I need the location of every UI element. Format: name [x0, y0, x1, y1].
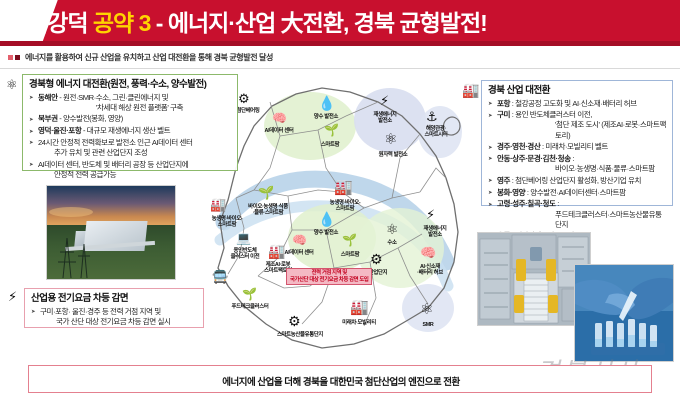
harbor-icon: ⚓: [426, 110, 438, 123]
map-callout-line2: 국가산단 대상 전기요금 차등 감면 도입: [290, 277, 368, 284]
footer-banner: 에너지에 산업을 더해 경북을 대한민국 첨단산업의 엔진으로 전환: [28, 365, 652, 393]
factory-icon-west: 🏭: [210, 198, 226, 211]
map-label-smart-farm-mid: 스마트팜: [326, 252, 374, 258]
header-subtitle: 에너지를 활용하여 신규 산업을 유치하고 산업 대전환을 통해 경북 균형발전…: [25, 52, 273, 63]
factory-icon-panel: 🏭: [462, 84, 479, 97]
map-label-semiconductor: 용인반도체 클러스터 이전: [214, 248, 276, 261]
industry-bullet-4: 안동·상주·문경·김천·청송 : 바이오·농생명·식품·물류·스마트팜: [488, 154, 667, 174]
map-label-hydrogen: 수소: [372, 240, 412, 246]
map-label-bio-smartfarm-west: 농생명·바이오- 스마트팜: [198, 216, 256, 229]
lab-photo-art: [575, 265, 673, 361]
map-callout-line1: 전력 거점 지역 및: [290, 270, 368, 277]
lightning-icon-panel: ⚡: [8, 290, 17, 303]
candidate-name: 이강덕: [27, 10, 87, 36]
map-label-ai-battery-hub: AI·신소재 ·배터리 허브: [400, 264, 460, 277]
map-label-ai-data-center-mid: AI데이터 센터: [268, 250, 330, 256]
footer-text: 에너지에 산업을 더해 경북을 대한민국 첨단산업의 엔진으로 전환: [29, 374, 653, 388]
photo-pylons: [47, 186, 175, 279]
map-label-foodtech: 푸드테크클러스터: [214, 304, 286, 310]
industry-bullet-2: 구미 : 용인 반도체클러스터 이전, '첨단 제조 도시' (제조AI·로봇·…: [488, 110, 667, 141]
ai-brain-icon-hub: 🧠: [420, 246, 436, 259]
lightning-icon-east: ⚡: [426, 208, 435, 221]
map-label-renewable-east: 재생에너지 발전소: [406, 226, 464, 239]
energy-bullet-5: AI데이터 센터, 반도체 및 배터리 공장 등 산업단지에 안정적 전력 공급…: [29, 160, 232, 180]
power-rate-box: 산업용 전기요금 차등 감면 구미·포항· 울진·경주 등 전력 거점 지역 및…: [24, 288, 204, 328]
map-callout-power-discount: 전력 거점 지역 및 국가산단 대상 전기요금 차등 감면 도입: [286, 268, 372, 285]
atom-icon-panel: ⚛: [6, 78, 18, 91]
map-label-bio-food-logistics: 바이오·농생명·식품 ·물류·스마트팜: [222, 204, 314, 217]
bullet-square-icon-2: [15, 55, 20, 60]
energy-bullet-2: 북부권 - 양수발전(봉화, 영양): [29, 114, 232, 124]
map-label-ai-data-center-north: AI데이터 센터: [248, 128, 310, 134]
ai-brain-icon-mid: 🧠: [292, 234, 307, 246]
infographic-root: 이강덕 공약 3 - 에너지·산업 大전환, 경북 균형발전! 에너지를 활용하…: [0, 0, 680, 402]
map-label-smart-distribution: 스마트농산물유통단지: [258, 332, 342, 338]
atom-icon-hydrogen: ⚛: [386, 222, 399, 236]
header-subtitle-bar: 에너지를 활용하여 신규 산업을 유치하고 산업 대전환을 통해 경북 균형발전…: [0, 48, 680, 69]
atom-icon: ⚛: [384, 132, 397, 147]
factory-icon-mobility: 🏭: [350, 300, 369, 315]
ai-brain-icon: 🧠: [272, 112, 287, 124]
zone-green-north: [264, 92, 356, 160]
laboratory-photo: [574, 264, 674, 362]
laptop-icon: 💻: [236, 232, 251, 244]
lightning-icon: ⚡: [380, 94, 389, 107]
industry-box-title: 경북 산업 대전환: [488, 85, 667, 97]
plant-icon: 🌱: [324, 124, 339, 136]
map-label-smr: SMR: [406, 322, 450, 328]
title-rest: - 에너지·산업 大전환, 경북 균형발전!: [156, 10, 487, 36]
energy-box-title: 경북형 에너지 대전환(원전, 풍력·수소, 양수발전): [29, 79, 232, 91]
bus-icon: 🚍: [212, 270, 228, 283]
energy-transition-box: 경북형 에너지 대전환(원전, 풍력·수소, 양수발전) 동해안 - 원전·SM…: [22, 74, 238, 171]
plant-icon-food: 🌱: [242, 288, 257, 300]
energy-bullet-3: 영덕·울진·포항 - 대규모 재생에너지 생산 벨트: [29, 126, 232, 136]
atom-icon-smr: ⚛: [420, 302, 433, 317]
header-banner: 이강덕 공약 3 - 에너지·산업 大전환, 경북 균형발전!: [0, 0, 680, 46]
pledge-number: 공약 3: [93, 10, 151, 36]
energy-bullet-4: 24시간 안정적 전력확보로 발전소 인근 AI데이터 센터 추가 유치 및 관…: [29, 138, 232, 158]
water-drop-icon-mid: 💧: [318, 212, 335, 226]
industry-bullet-1: 포항 : 철강공정 고도화 및 AI·신소재·배터리 허브: [488, 99, 667, 109]
page-title: 이강덕 공약 3 - 에너지·산업 大전환, 경북 균형발전!: [27, 6, 487, 40]
map-label-future-mobility: 미래차·모빌리티: [326, 320, 392, 326]
map-label-smart-farm-north: 스마트팜: [306, 142, 354, 148]
bullet-square-icon: [8, 55, 13, 60]
data-center-photo: [46, 185, 176, 280]
power-box-title: 산업용 전기요금 차등 감면: [31, 293, 198, 305]
gear-icon: ⚙: [238, 92, 250, 105]
industry-bullet-3: 경주·영천·경산 : 미래차·모빌리티 벨트: [488, 142, 667, 152]
water-drop-icon: 💧: [318, 96, 335, 110]
network-icon: ⚙: [288, 314, 301, 328]
map-label-pumped-storage-north: 양수 발전소: [300, 114, 352, 120]
industry-bullet-7: 고령·성주·칠곡·청도 : 푸드테크클러스터·스마트농산물유통단지: [488, 199, 667, 230]
industry-bullet-6: 봉화·영양 : 양수발전·AI데이터센터·스마트팜: [488, 188, 667, 198]
industry-transition-box: 경북 산업 대전환 포항 : 철강공정 고도화 및 AI·신소재·배터리 허브 …: [481, 80, 673, 206]
factory-icon-center: 🏭: [334, 180, 353, 195]
power-bullet-1: 구미·포항· 울진·경주 등 전력 거점 지역 및 국가 산단 대상 전기요금 …: [31, 307, 198, 327]
industry-bullet-5: 영주 : 첨단베어링 산업단지 활성화, 방산기업 유치: [488, 176, 667, 186]
plant-icon-2: 🌱: [258, 186, 274, 199]
plant-icon-mid: 🌱: [342, 234, 357, 246]
map-label-nuclear: 원자력 발전소: [364, 152, 422, 158]
map-label-marine-tourism: 해양관광· 스마트시티: [410, 126, 462, 139]
gyeongbuk-map: ⚙ 첨단베어링 🧠 AI데이터 센터 💧 양수 발전소 🌱 스마트팜 ⚡ 재생에…: [214, 72, 474, 357]
energy-bullet-1: 동해안 - 원전·SMR·수소, 그린·클린에너지 및 '차세대 해상 원전 플…: [29, 93, 232, 113]
map-label-renewable-north: 재생에너지 발전소: [356, 112, 414, 125]
